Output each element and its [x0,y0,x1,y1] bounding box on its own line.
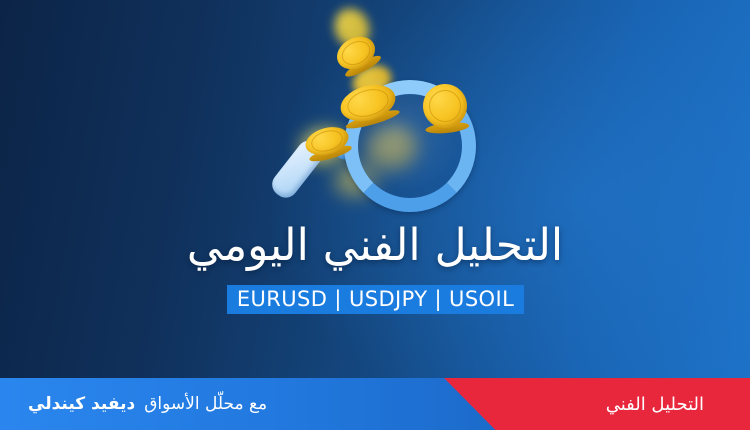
presenter-prefix-label: مع محلّل الأسواق [144,394,267,414]
footer-bar: مع محلّل الأسواق ديفيد كيندلي التحليل ال… [0,378,750,430]
category-label: التحليل الفني [606,378,704,430]
ticker-symbols-label: EURUSD | USDJPY | USOIL [237,289,514,310]
presenter-credit: مع محلّل الأسواق ديفيد كيندلي [28,378,267,430]
presenter-name-label: ديفيد كيندلي [28,394,135,414]
ticker-badge: EURUSD | USDJPY | USOIL [227,285,524,314]
promo-banner: التحليل الفني اليومي EURUSD | USDJPY | U… [0,0,750,430]
banner-headline: التحليل الفني اليومي [0,216,750,276]
